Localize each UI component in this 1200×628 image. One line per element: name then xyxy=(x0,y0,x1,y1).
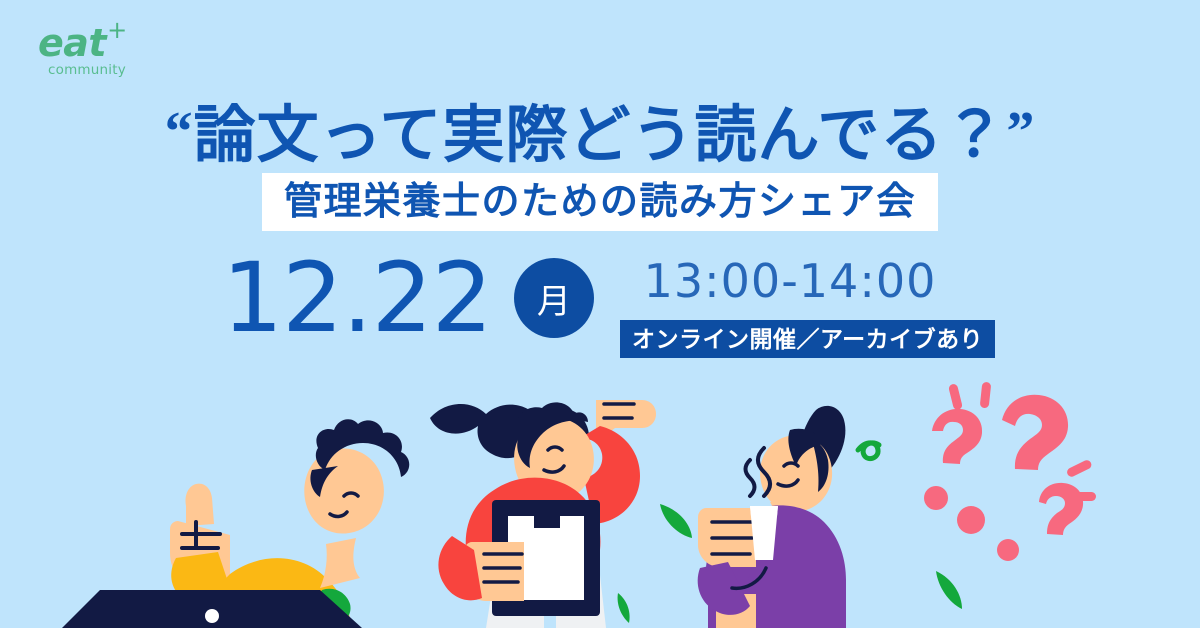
event-info: 12.22 月 13:00-14:00 オンライン開催／アーカイブあり xyxy=(0,248,1200,368)
event-date-group: 12.22 月 xyxy=(222,248,594,348)
event-time-group: 13:00-14:00 オンライン開催／アーカイブあり xyxy=(620,252,960,358)
event-time: 13:00-14:00 xyxy=(620,252,960,310)
brand-plus-icon: + xyxy=(107,18,127,42)
headline-text: 論文って実際どう読んでる？ xyxy=(194,101,1007,170)
headline: “論文って実際どう読んでる？” xyxy=(0,84,1200,174)
person-middle xyxy=(430,400,656,628)
subtitle-container: 管理栄養士のための読み方シェア会 xyxy=(0,173,1200,231)
event-date: 12.22 xyxy=(222,248,492,348)
event-weekday-badge: 月 xyxy=(514,258,594,338)
brand-logo[interactable]: eat+ community xyxy=(38,24,198,86)
person-left xyxy=(62,419,409,628)
open-quote: “ xyxy=(165,101,194,163)
brand-name: eat xyxy=(38,21,106,65)
close-quote: ” xyxy=(1006,101,1035,163)
brand-tagline: community xyxy=(48,64,198,78)
people-illustration xyxy=(0,388,1200,628)
event-banner: eat+ community “論文って実際どう読んでる？” 管理栄養士のための… xyxy=(0,0,1200,628)
person-right xyxy=(698,406,846,628)
brand-logo-mark: eat+ xyxy=(38,24,198,62)
subtitle: 管理栄養士のための読み方シェア会 xyxy=(262,173,938,231)
event-format-badge: オンライン開催／アーカイブあり xyxy=(620,320,995,358)
leaf-decor xyxy=(314,492,962,623)
